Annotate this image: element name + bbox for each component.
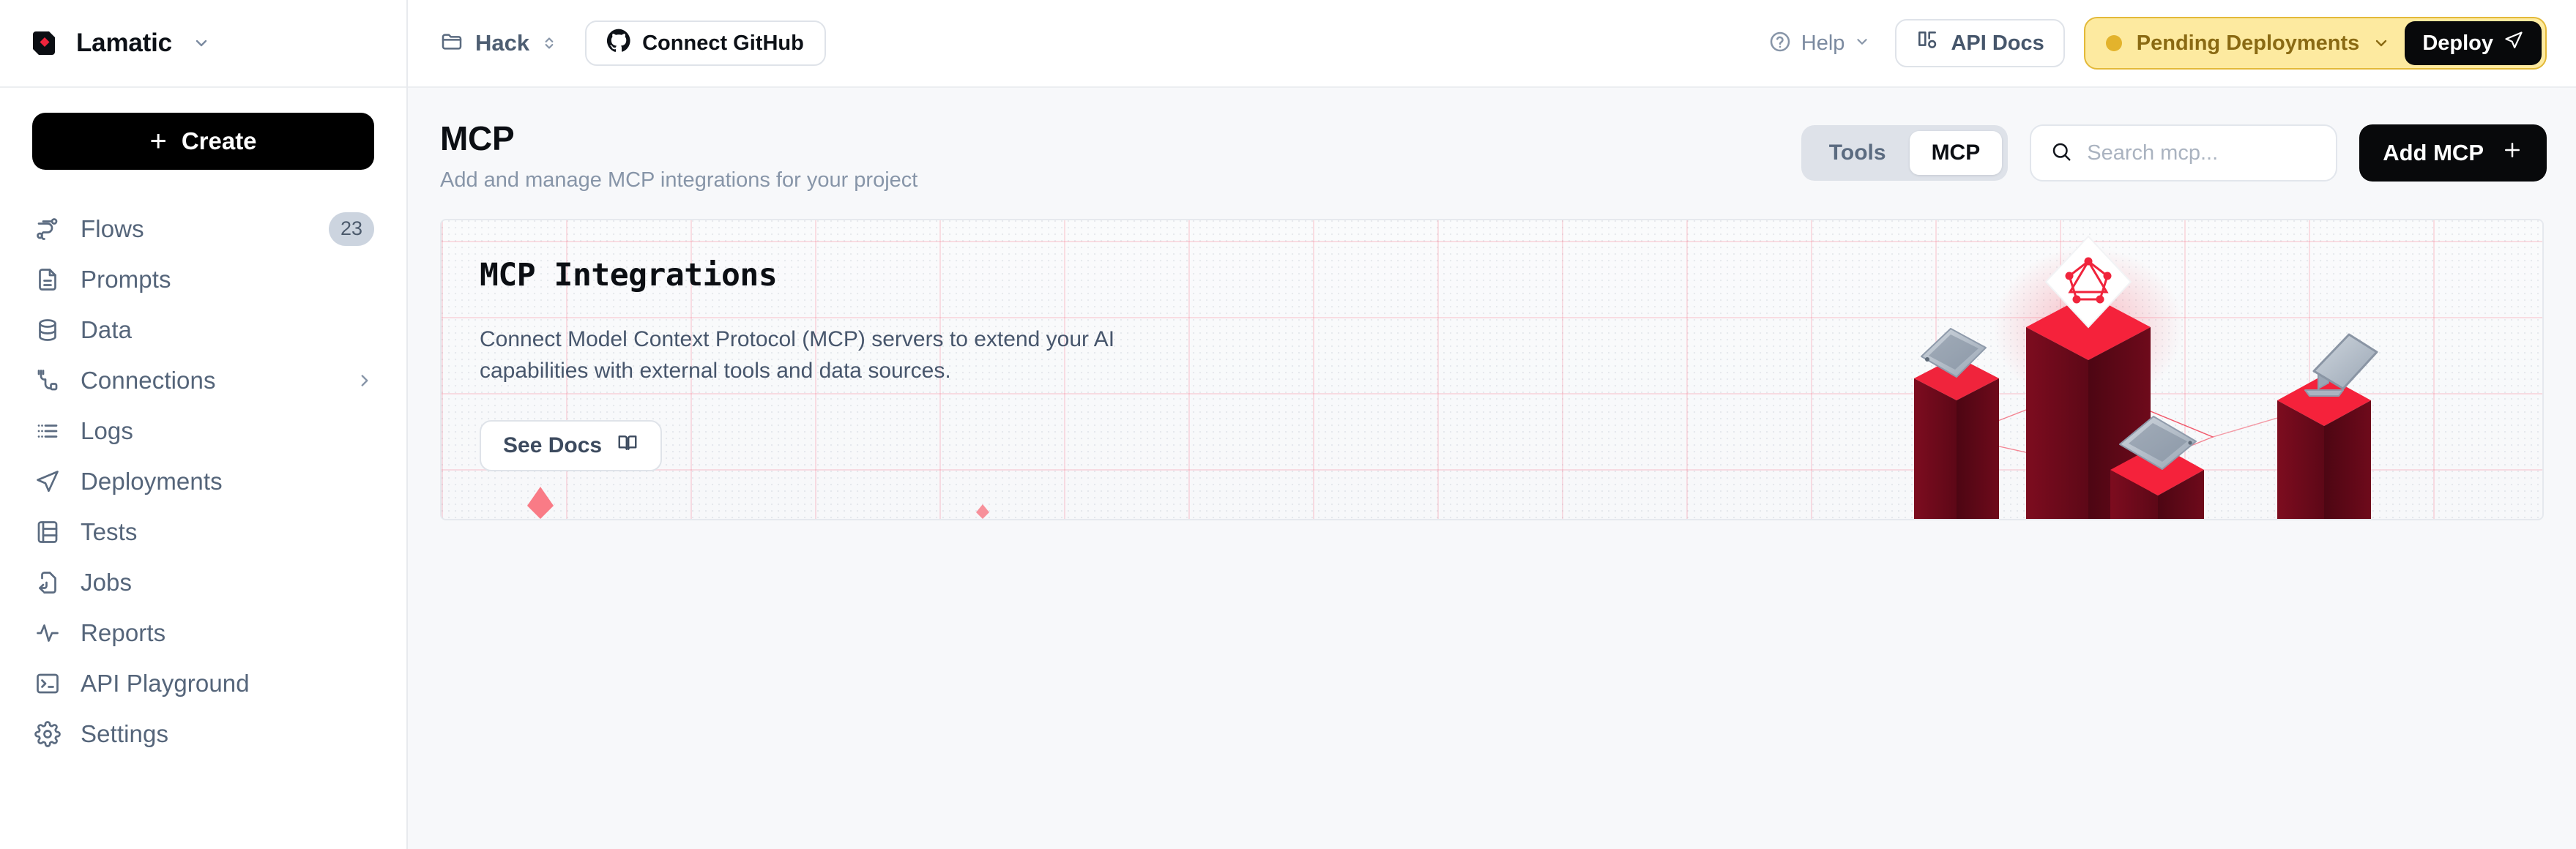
folder-icon: [440, 30, 464, 57]
page-titles: MCP Add and manage MCP integrations for …: [440, 119, 917, 192]
sidebar-item-label: Tests: [81, 518, 138, 546]
sidebar-item-prompts[interactable]: Prompts: [0, 254, 406, 304]
send-icon: [2504, 30, 2524, 56]
sidebar-item-label: Prompts: [81, 266, 171, 293]
sidebar-item-label: Reports: [81, 619, 165, 647]
document-icon: [34, 266, 62, 293]
activity-icon: [34, 619, 62, 647]
create-button-label: Create: [182, 127, 257, 155]
tab-mcp[interactable]: MCP: [1910, 131, 2003, 175]
sidebar-item-api-playground[interactable]: API Playground: [0, 658, 406, 708]
page-toolbar: Tools MCP Add MCP: [1801, 119, 2547, 182]
connect-github-label: Connect GitHub: [642, 31, 804, 56]
deployments-group: Pending Deployments Deploy: [2084, 17, 2547, 70]
topbar: Hack Connect GitHub: [408, 0, 2576, 88]
api-docs-icon: [1916, 29, 1939, 58]
sidebar-item-label: Connections: [81, 367, 216, 394]
sidebar-item-jobs[interactable]: Jobs: [0, 557, 406, 607]
sidebar-item-flows[interactable]: Flows 23: [0, 203, 406, 254]
pillar-center: [2026, 236, 2151, 519]
see-docs-label: See Docs: [503, 433, 602, 458]
gear-icon: [34, 720, 62, 748]
github-icon: [607, 29, 630, 58]
sidebar-item-connections[interactable]: Connections: [0, 355, 406, 405]
tab-tools[interactable]: Tools: [1807, 131, 1908, 175]
search-icon: [2050, 141, 2072, 166]
sidebar-item-deployments[interactable]: Deployments: [0, 456, 406, 506]
sidebar-item-reports[interactable]: Reports: [0, 607, 406, 658]
help-menu[interactable]: Help: [1768, 30, 1871, 57]
add-mcp-label: Add MCP: [2383, 140, 2484, 166]
list-icon: [34, 417, 62, 445]
plus-icon: +: [149, 130, 166, 153]
api-docs-button[interactable]: API Docs: [1895, 19, 2064, 67]
sidebar-item-label: Logs: [81, 417, 133, 445]
database-icon: [34, 316, 62, 344]
lamatic-logo-icon: [29, 28, 60, 59]
pillar-front: [2110, 416, 2204, 519]
isometric-mcp-servers-illustration: [1869, 219, 2425, 519]
workspace-name: Lamatic: [76, 29, 172, 58]
sidebar-item-label: API Playground: [81, 670, 250, 697]
grid-diamond-marker-icon: [518, 485, 562, 519]
deploy-label: Deploy: [2422, 31, 2493, 56]
project-selector[interactable]: Hack: [440, 30, 557, 57]
mcp-integrations-card: MCP Integrations Connect Model Context P…: [440, 219, 2544, 520]
search-input[interactable]: [2087, 141, 2317, 165]
book-open-icon: [617, 432, 639, 460]
chevron-down-icon: [193, 34, 210, 52]
flows-count-badge: 23: [329, 212, 374, 246]
question-circle-icon: [1768, 30, 1792, 57]
add-mcp-button[interactable]: Add MCP: [2359, 124, 2547, 182]
help-label: Help: [1801, 31, 1845, 56]
plus-icon: [2501, 139, 2523, 167]
workspace-brand[interactable]: Lamatic: [0, 0, 406, 88]
search-box[interactable]: [2030, 124, 2337, 182]
main-content: Hack Connect GitHub: [408, 0, 2576, 849]
hero-title: MCP Integrations: [480, 257, 1247, 293]
sidebar-item-label: Deployments: [81, 468, 223, 495]
create-button[interactable]: + Create: [32, 113, 374, 170]
hero-card-content: MCP Integrations Connect Model Context P…: [442, 220, 1247, 471]
page-title: MCP: [440, 119, 917, 158]
connect-github-button[interactable]: Connect GitHub: [585, 20, 826, 66]
sidebar-item-label: Settings: [81, 720, 168, 748]
chevron-up-down-icon: [541, 34, 557, 53]
page-subtitle: Add and manage MCP integrations for your…: [440, 168, 917, 192]
sidebar-item-settings[interactable]: Settings: [0, 708, 406, 759]
view-toggle: Tools MCP: [1801, 125, 2008, 181]
job-file-icon: [34, 569, 62, 596]
sidebar-item-label: Data: [81, 316, 132, 344]
api-docs-label: API Docs: [1951, 31, 2044, 56]
sidebar-item-label: Jobs: [81, 569, 132, 596]
create-button-wrapper: + Create: [0, 88, 406, 174]
status-dot-icon: [2106, 35, 2122, 51]
deploy-button[interactable]: Deploy: [2405, 21, 2542, 65]
chevron-down-icon[interactable]: [2372, 34, 2390, 52]
grid-diamond-marker-icon: [972, 503, 993, 519]
sidebar-nav: Flows 23 Prompts D: [0, 203, 406, 759]
see-docs-button[interactable]: See Docs: [480, 420, 662, 471]
sidebar: Lamatic + Create Flows 23: [0, 0, 408, 849]
sidebar-item-label: Flows: [81, 215, 144, 243]
chevron-down-icon: [1854, 34, 1870, 53]
hero-card-area: MCP Integrations Connect Model Context P…: [408, 192, 2576, 520]
flow-icon: [34, 215, 62, 243]
sidebar-item-tests[interactable]: Tests: [0, 506, 406, 557]
project-name: Hack: [475, 30, 529, 56]
page-header: MCP Add and manage MCP integrations for …: [408, 88, 2576, 192]
plug-icon: [34, 367, 62, 394]
sidebar-item-logs[interactable]: Logs: [0, 405, 406, 456]
terminal-icon: [34, 670, 62, 697]
pending-deployments-label[interactable]: Pending Deployments: [2137, 31, 2360, 56]
table-icon: [34, 518, 62, 546]
app-root: Lamatic + Create Flows 23: [0, 0, 2576, 849]
chevron-right-icon: [355, 371, 374, 390]
pillar-left: [1914, 329, 1999, 519]
hero-description: Connect Model Context Protocol (MCP) ser…: [480, 324, 1183, 386]
sidebar-item-data[interactable]: Data: [0, 304, 406, 355]
send-icon: [34, 468, 62, 495]
pillar-right: [2277, 334, 2377, 519]
